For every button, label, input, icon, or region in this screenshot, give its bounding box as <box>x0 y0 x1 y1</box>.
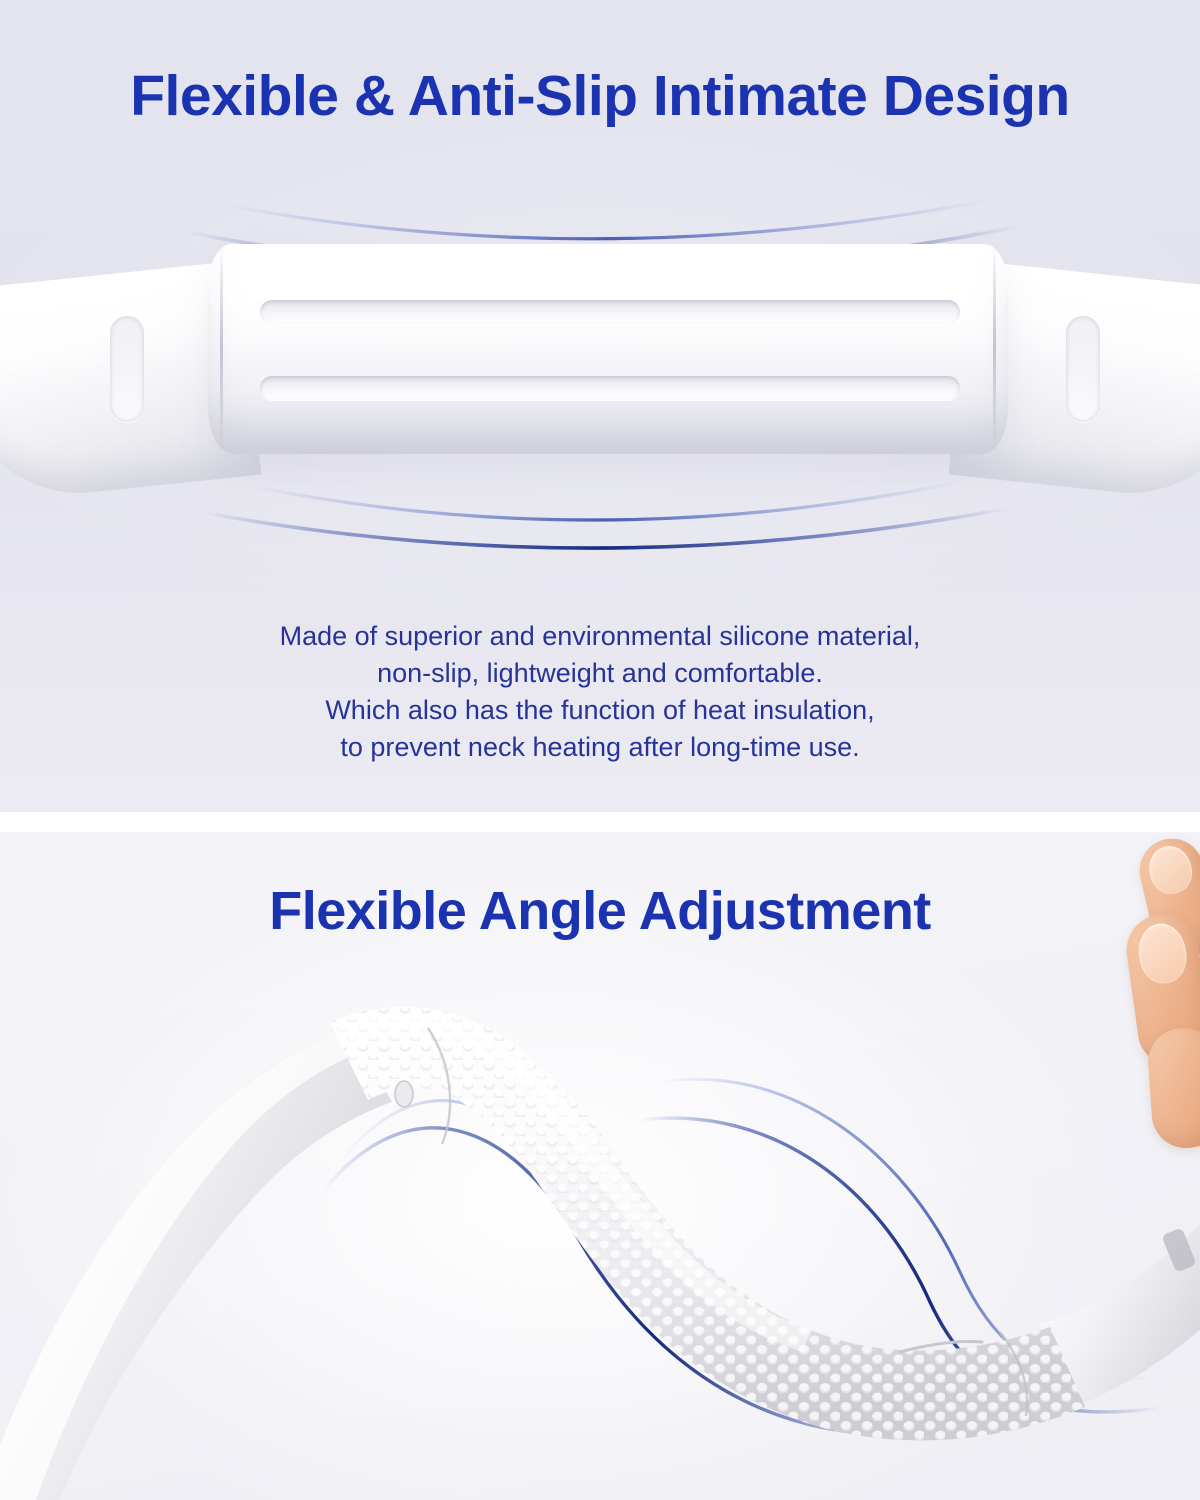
band-seam-left <box>220 246 223 452</box>
panel-angle-adjustment: Flexible Angle Adjustment <box>0 832 1200 1500</box>
panel-anti-slip-design: Flexible & Anti-Slip Intimate Design <box>0 0 1200 812</box>
fingernail <box>1145 842 1197 898</box>
anti-slip-dot-texture <box>330 982 1100 1462</box>
description-line-3: Which also has the function of heat insu… <box>0 692 1200 729</box>
anti-slip-groove-lower <box>260 376 960 400</box>
anti-slip-groove-upper <box>260 300 960 324</box>
band-right-vent-slot <box>1066 316 1100 422</box>
panel-divider <box>0 812 1200 832</box>
fingernail <box>1135 920 1190 986</box>
product-image-neck-band-bent <box>0 832 1200 1500</box>
panel1-description: Made of superior and environmental silic… <box>0 618 1200 766</box>
product-image-neck-band-grip <box>0 238 1200 503</box>
band-hinge-detail <box>395 1081 413 1107</box>
band-left-vent-slot <box>110 316 144 422</box>
description-line-4: to prevent neck heating after long-time … <box>0 729 1200 766</box>
band-seam-right <box>993 246 996 452</box>
description-line-2: non-slip, lightweight and comfortable. <box>0 655 1200 692</box>
infographic-page: Flexible & Anti-Slip Intimate Design <box>0 0 1200 1500</box>
motion-arc-top-1 <box>225 200 990 239</box>
description-line-1: Made of superior and environmental silic… <box>0 618 1200 655</box>
band-center-grip <box>208 244 1008 454</box>
motion-arc-bottom-2 <box>200 508 1010 548</box>
